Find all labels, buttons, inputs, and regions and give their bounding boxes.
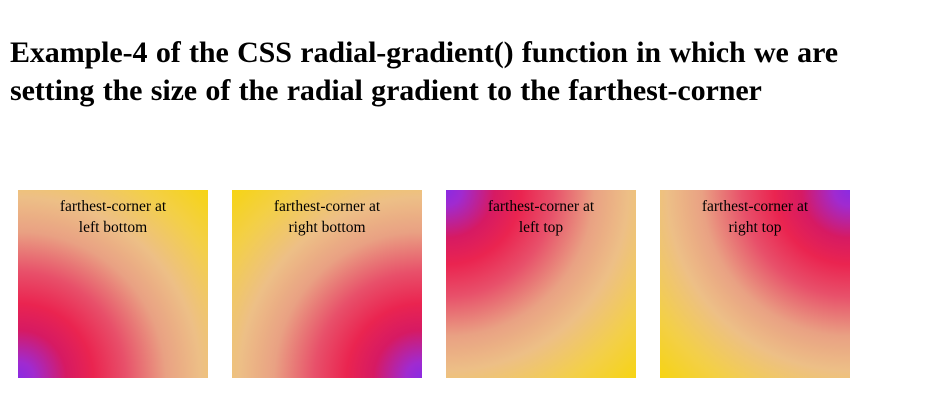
gradient-swatch-right-bottom: farthest-corner at right bottom — [232, 190, 422, 378]
gradient-label-line-2: right top — [729, 219, 782, 236]
gradient-swatch-label: farthest-corner at right bottom — [232, 196, 422, 238]
gradient-label-line-2: right bottom — [288, 219, 365, 236]
gradient-label-line-1: farthest-corner at — [60, 198, 166, 215]
gradient-swatch-label: farthest-corner at left top — [446, 196, 636, 238]
gradient-swatch-right-top: farthest-corner at right top — [660, 190, 850, 378]
gradient-swatch-left-top: farthest-corner at left top — [446, 190, 636, 378]
gradient-swatch-left-bottom: farthest-corner at left bottom — [18, 190, 208, 378]
gradient-label-line-1: farthest-corner at — [488, 198, 594, 215]
gradient-label-line-2: left top — [519, 219, 563, 236]
page-title: Example-4 of the CSS radial-gradient() f… — [10, 34, 915, 110]
gradient-demo-row: farthest-corner at left bottom farthest-… — [18, 190, 850, 378]
gradient-swatch-label: farthest-corner at left bottom — [18, 196, 208, 238]
gradient-label-line-1: farthest-corner at — [274, 198, 380, 215]
gradient-label-line-1: farthest-corner at — [702, 198, 808, 215]
gradient-label-line-2: left bottom — [79, 219, 147, 236]
gradient-swatch-label: farthest-corner at right top — [660, 196, 850, 238]
